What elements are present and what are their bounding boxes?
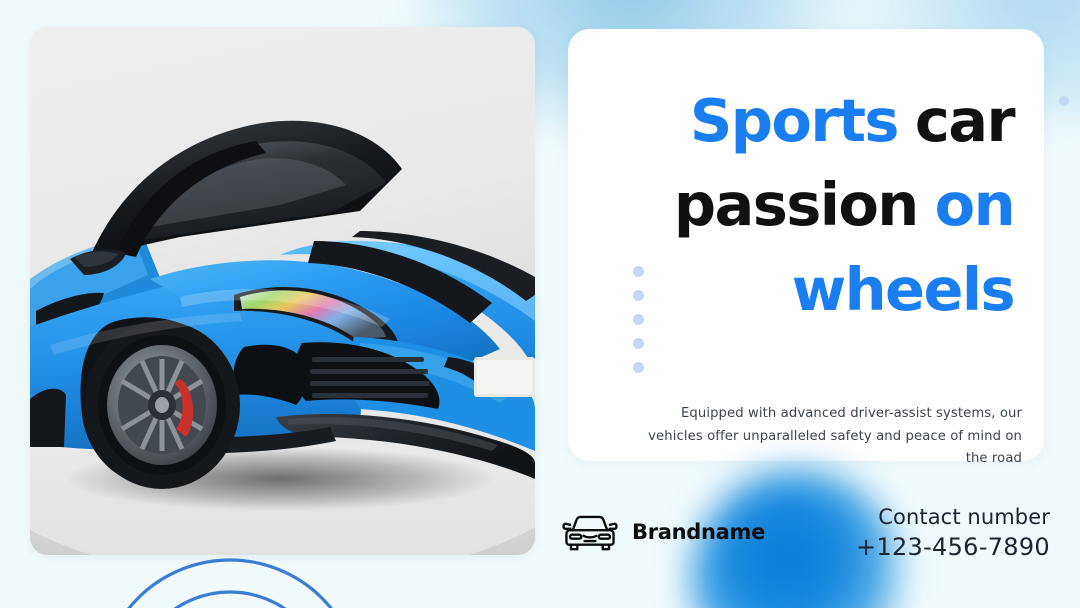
brand-lockup[interactable]: Brandname	[561, 510, 765, 554]
car-photo-card	[30, 27, 535, 555]
description-line-2: offer unparalleled safety and peace of m…	[707, 429, 1022, 467]
headline-word-sports: Sports	[690, 86, 898, 155]
decorative-dot	[633, 362, 644, 373]
contact-block: Contact number +123-456-7890	[856, 503, 1050, 564]
contact-label: Contact number	[856, 503, 1050, 531]
decorative-dot	[633, 338, 644, 349]
headline-card: Sports car passion on wheels Equipped wi…	[568, 29, 1044, 461]
decorative-dot	[633, 314, 644, 325]
decorative-dot	[633, 290, 644, 301]
decorative-dot-right	[1059, 96, 1069, 106]
description-text: Equipped with advanced driver-assist sys…	[626, 403, 1022, 471]
decorative-dot	[633, 266, 644, 277]
brand-name: Brandname	[632, 520, 765, 544]
contact-number[interactable]: +123-456-7890	[856, 531, 1050, 563]
poster-canvas: Sports car passion on wheels Equipped wi…	[0, 0, 1080, 608]
page-title: Sports car passion on wheels	[600, 79, 1014, 332]
headline-word-wheels: wheels	[792, 255, 1014, 324]
car-front-icon	[561, 510, 619, 554]
headline-word-on: on	[935, 170, 1014, 239]
headline-word-car: car	[915, 86, 1014, 155]
car-photo	[30, 27, 535, 555]
headline-word-passion: passion	[674, 170, 918, 239]
decorative-dot-column	[633, 266, 644, 373]
